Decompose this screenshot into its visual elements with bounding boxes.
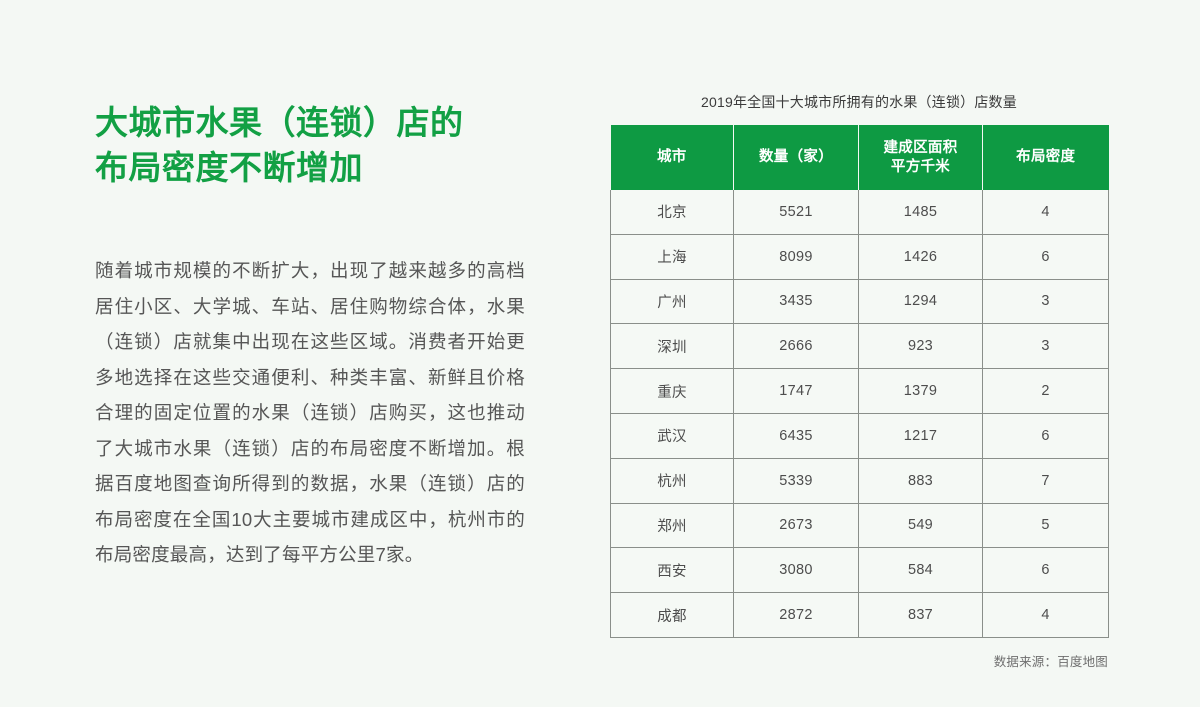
page-title-line-1: 大城市水果（连锁）店的 [95,100,525,145]
cell-area: 1379 [859,369,983,414]
table-panel: 2019年全国十大城市所拥有的水果（连锁）店数量 城市 数量（家） 建成区面积 … [610,92,1108,670]
cell-city: 成都 [611,593,734,638]
table-title: 2019年全国十大城市所拥有的水果（连锁）店数量 [610,92,1108,112]
table-body: 北京552114854上海809914266广州343512943深圳26669… [611,190,1109,637]
cell-density: 4 [983,593,1109,638]
cell-density: 2 [983,369,1109,414]
cell-area: 883 [859,458,983,503]
cell-city: 重庆 [611,369,734,414]
cell-count: 5339 [734,458,859,503]
column-header-area-line-2: 平方千米 [861,158,980,177]
table-row: 成都28728374 [611,593,1109,638]
cell-area: 923 [859,324,983,369]
cell-density: 5 [983,503,1109,548]
cell-city: 上海 [611,234,734,279]
cell-count: 2673 [734,503,859,548]
table-row: 西安30805846 [611,548,1109,593]
cell-city: 北京 [611,190,734,234]
column-header-area-line-1: 建成区面积 [861,139,980,158]
cell-density: 6 [983,548,1109,593]
source-note: 数据来源：百度地图 [610,651,1108,670]
table-row: 北京552114854 [611,190,1109,234]
cell-city: 广州 [611,279,734,324]
cell-area: 1426 [859,234,983,279]
cell-density: 3 [983,279,1109,324]
table-header-row: 城市 数量（家） 建成区面积 平方千米 布局密度 [611,125,1109,190]
cell-count: 3080 [734,548,859,593]
cell-area: 549 [859,503,983,548]
cell-count: 5521 [734,190,859,234]
cell-area: 1294 [859,279,983,324]
cell-count: 2872 [734,593,859,638]
cell-city: 杭州 [611,458,734,503]
cell-area: 584 [859,548,983,593]
cell-density: 4 [983,190,1109,234]
column-header-area: 建成区面积 平方千米 [859,125,983,190]
cell-area: 837 [859,593,983,638]
cell-count: 3435 [734,279,859,324]
cell-count: 8099 [734,234,859,279]
cell-count: 2666 [734,324,859,369]
table-header: 城市 数量（家） 建成区面积 平方千米 布局密度 [611,125,1109,190]
table-row: 郑州26735495 [611,503,1109,548]
column-header-density: 布局密度 [983,125,1109,190]
table-row: 深圳26669233 [611,324,1109,369]
page-title: 大城市水果（连锁）店的 布局密度不断增加 [95,100,525,190]
table-row: 杭州53398837 [611,458,1109,503]
cell-area: 1217 [859,413,983,458]
cell-density: 3 [983,324,1109,369]
cell-density: 6 [983,413,1109,458]
cell-count: 6435 [734,413,859,458]
left-content-column: 大城市水果（连锁）店的 布局密度不断增加 随着城市规模的不断扩大，出现了越来越多… [95,100,525,573]
fruit-store-table: 城市 数量（家） 建成区面积 平方千米 布局密度 北京552114854上海80… [610,125,1109,638]
column-header-city: 城市 [611,125,734,190]
slide-page: 大城市水果（连锁）店的 布局密度不断增加 随着城市规模的不断扩大，出现了越来越多… [0,0,1200,707]
cell-city: 郑州 [611,503,734,548]
cell-count: 1747 [734,369,859,414]
table-row: 广州343512943 [611,279,1109,324]
table-row: 上海809914266 [611,234,1109,279]
table-row: 重庆174713792 [611,369,1109,414]
cell-density: 7 [983,458,1109,503]
table-row: 武汉643512176 [611,413,1109,458]
cell-city: 深圳 [611,324,734,369]
cell-city: 武汉 [611,413,734,458]
cell-city: 西安 [611,548,734,593]
cell-area: 1485 [859,190,983,234]
column-header-count: 数量（家） [734,125,859,190]
cell-density: 6 [983,234,1109,279]
page-title-line-2: 布局密度不断增加 [95,145,525,190]
body-paragraph: 随着城市规模的不断扩大，出现了越来越多的高档居住小区、大学城、车站、居住购物综合… [95,253,525,573]
